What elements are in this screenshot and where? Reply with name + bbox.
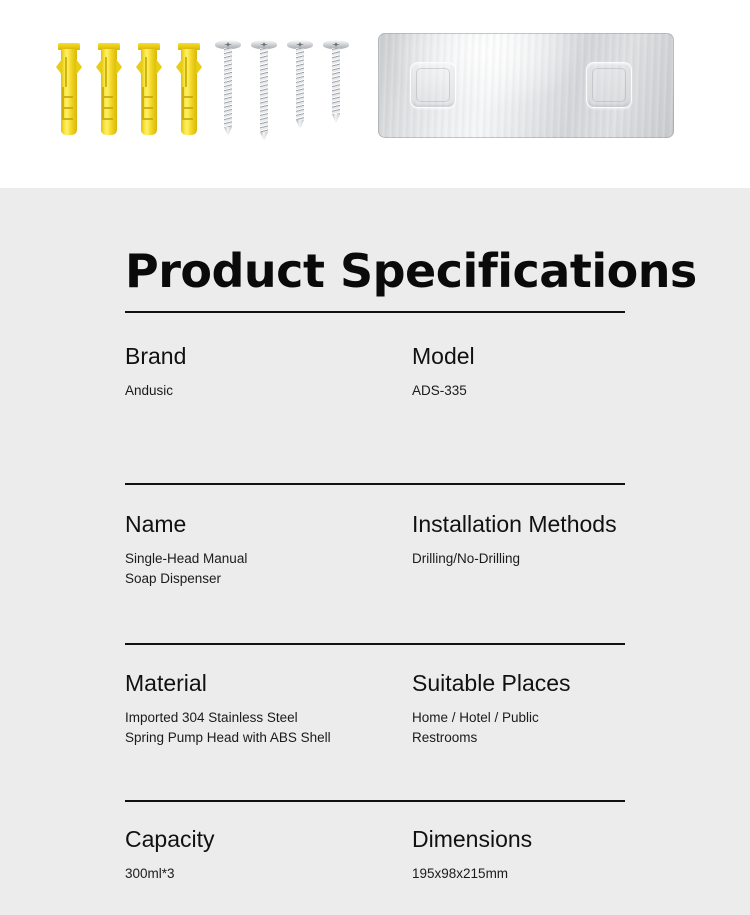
screw-shank	[260, 48, 268, 132]
anchor-notch	[182, 87, 193, 98]
spec-cell-installation-methods: Installation Methods Drilling/No-Drillin…	[412, 512, 625, 590]
spec-value: Home / Hotel / Public Restrooms	[412, 708, 625, 749]
anchor-notch	[142, 109, 153, 120]
screw-shank	[332, 48, 340, 114]
spec-row: Capacity 300ml*3 Dimensions 195x98x215mm	[125, 802, 625, 915]
spec-value: Single-Head Manual Soap Dispenser	[125, 549, 398, 590]
anchor-slot	[145, 57, 147, 87]
spec-label: Material	[125, 671, 398, 695]
anchor-wing-right	[196, 59, 202, 75]
spec-label: Name	[125, 512, 398, 536]
spec-cell-name: Name Single-Head Manual Soap Dispenser	[125, 512, 412, 590]
anchor-wing-right	[76, 59, 82, 75]
wall-anchor-icon	[178, 43, 200, 135]
screw-group	[215, 40, 345, 145]
spec-label: Brand	[125, 344, 398, 368]
anchor-wing-left	[96, 59, 102, 75]
plate-emboss-left	[410, 62, 456, 108]
wall-anchor-icon	[138, 43, 160, 135]
screw-tip	[332, 114, 340, 123]
spec-value: 195x98x215mm	[412, 864, 625, 885]
spec-cell-model: Model ADS-335	[412, 344, 625, 402]
spec-value: Andusic	[125, 381, 398, 402]
spec-cell-brand: Brand Andusic	[125, 344, 412, 402]
screw-tip	[260, 132, 268, 141]
anchor-notch	[182, 109, 193, 120]
spec-value: 300ml*3	[125, 864, 398, 885]
spec-cell-suitable-places: Suitable Places Home / Hotel / Public Re…	[412, 671, 625, 749]
anchor-wing-left	[176, 59, 182, 75]
anchor-notch	[62, 87, 73, 98]
spec-label: Capacity	[125, 827, 398, 851]
spec-label: Dimensions	[412, 827, 625, 851]
anchor-notch	[142, 87, 153, 98]
page-title: Product Specifications	[125, 248, 625, 294]
screw-shank	[224, 48, 232, 127]
spec-row: Material Imported 304 Stainless Steel Sp…	[125, 645, 625, 783]
wall-anchor-group	[58, 43, 208, 138]
anchor-notch	[142, 98, 153, 109]
screw-shank	[296, 48, 304, 120]
specifications-section: Product Specifications Brand Andusic Mod…	[0, 188, 750, 915]
anchor-notch	[102, 98, 113, 109]
spec-value: Drilling/No-Drilling	[412, 549, 625, 570]
spec-label: Model	[412, 344, 625, 368]
installation-hardware-photo	[0, 0, 750, 188]
anchor-slot	[65, 57, 67, 87]
spec-row: Brand Andusic Model ADS-335	[125, 313, 625, 466]
anchor-notch	[102, 109, 113, 120]
screw-tip	[224, 127, 232, 136]
anchor-notch	[62, 109, 73, 120]
spec-cell-dimensions: Dimensions 195x98x215mm	[412, 827, 625, 885]
product-detail-page: Product Specifications Brand Andusic Mod…	[0, 0, 750, 883]
anchor-notch	[182, 98, 193, 109]
wall-anchor-icon	[58, 43, 80, 135]
anchor-notch	[62, 98, 73, 109]
plate-emboss-right	[586, 62, 632, 108]
spec-row: Name Single-Head Manual Soap Dispenser I…	[125, 485, 625, 626]
anchor-wing-right	[116, 59, 122, 75]
anchor-wing-right	[156, 59, 162, 75]
spec-label: Installation Methods	[412, 512, 625, 536]
spec-value: Imported 304 Stainless Steel Spring Pump…	[125, 708, 398, 749]
anchor-notch	[102, 87, 113, 98]
anchor-wing-left	[56, 59, 62, 75]
anchor-slot	[105, 57, 107, 87]
spec-cell-material: Material Imported 304 Stainless Steel Sp…	[125, 671, 412, 749]
mounting-plate-icon	[378, 33, 674, 138]
spec-value: ADS-335	[412, 381, 625, 402]
anchor-wing-left	[136, 59, 142, 75]
screw-tip	[296, 120, 304, 129]
wall-anchor-icon	[98, 43, 120, 135]
spec-cell-capacity: Capacity 300ml*3	[125, 827, 412, 885]
anchor-slot	[185, 57, 187, 87]
spec-label: Suitable Places	[412, 671, 625, 695]
